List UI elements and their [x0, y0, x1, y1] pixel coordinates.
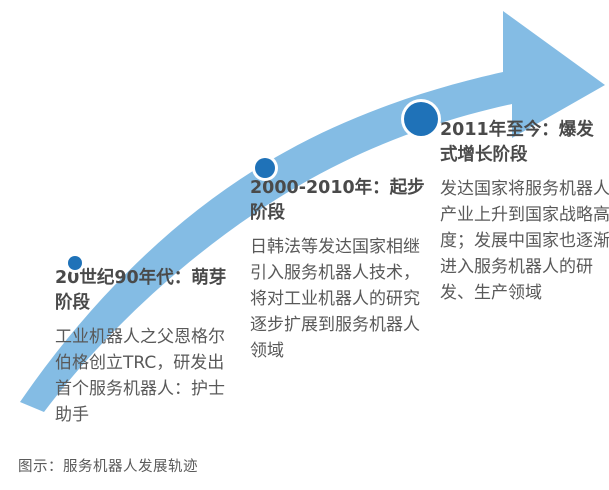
milestone-marker-2-dot-icon	[255, 158, 275, 178]
milestone-3-body: 发达国家将服务机器人产业上升到国家战略高度；发展中国家也逐渐进入服务机器人的研发…	[440, 176, 609, 306]
milestone-1-title: 20世纪90年代：萌芽阶段	[55, 266, 235, 316]
milestone-3: 2011年至今：爆发式增长阶段 发达国家将服务机器人产业上升到国家战略高度；发展…	[440, 118, 609, 306]
milestone-2-title: 2000-2010年：起步阶段	[250, 176, 435, 226]
service-robot-timeline-infographic: 20世纪90年代：萌芽阶段 工业机器人之父恩格尔伯格创立TRC，研发出首个服务机…	[0, 0, 609, 490]
milestone-2-body: 日韩法等发达国家相继引入服务机器人技术，将对工业机器人的研究逐步扩展到服务机器人…	[250, 234, 435, 364]
milestone-marker-1-dot-icon	[68, 256, 82, 270]
milestone-1: 20世纪90年代：萌芽阶段 工业机器人之父恩格尔伯格创立TRC，研发出首个服务机…	[55, 266, 235, 428]
milestone-marker-3-dot-icon	[404, 102, 438, 136]
milestone-2: 2000-2010年：起步阶段 日韩法等发达国家相继引入服务机器人技术，将对工业…	[250, 176, 435, 364]
figure-caption: 图示：服务机器人发展轨迹	[18, 455, 198, 476]
milestone-3-title: 2011年至今：爆发式增长阶段	[440, 118, 609, 168]
milestone-1-body: 工业机器人之父恩格尔伯格创立TRC，研发出首个服务机器人：护士助手	[55, 324, 235, 428]
